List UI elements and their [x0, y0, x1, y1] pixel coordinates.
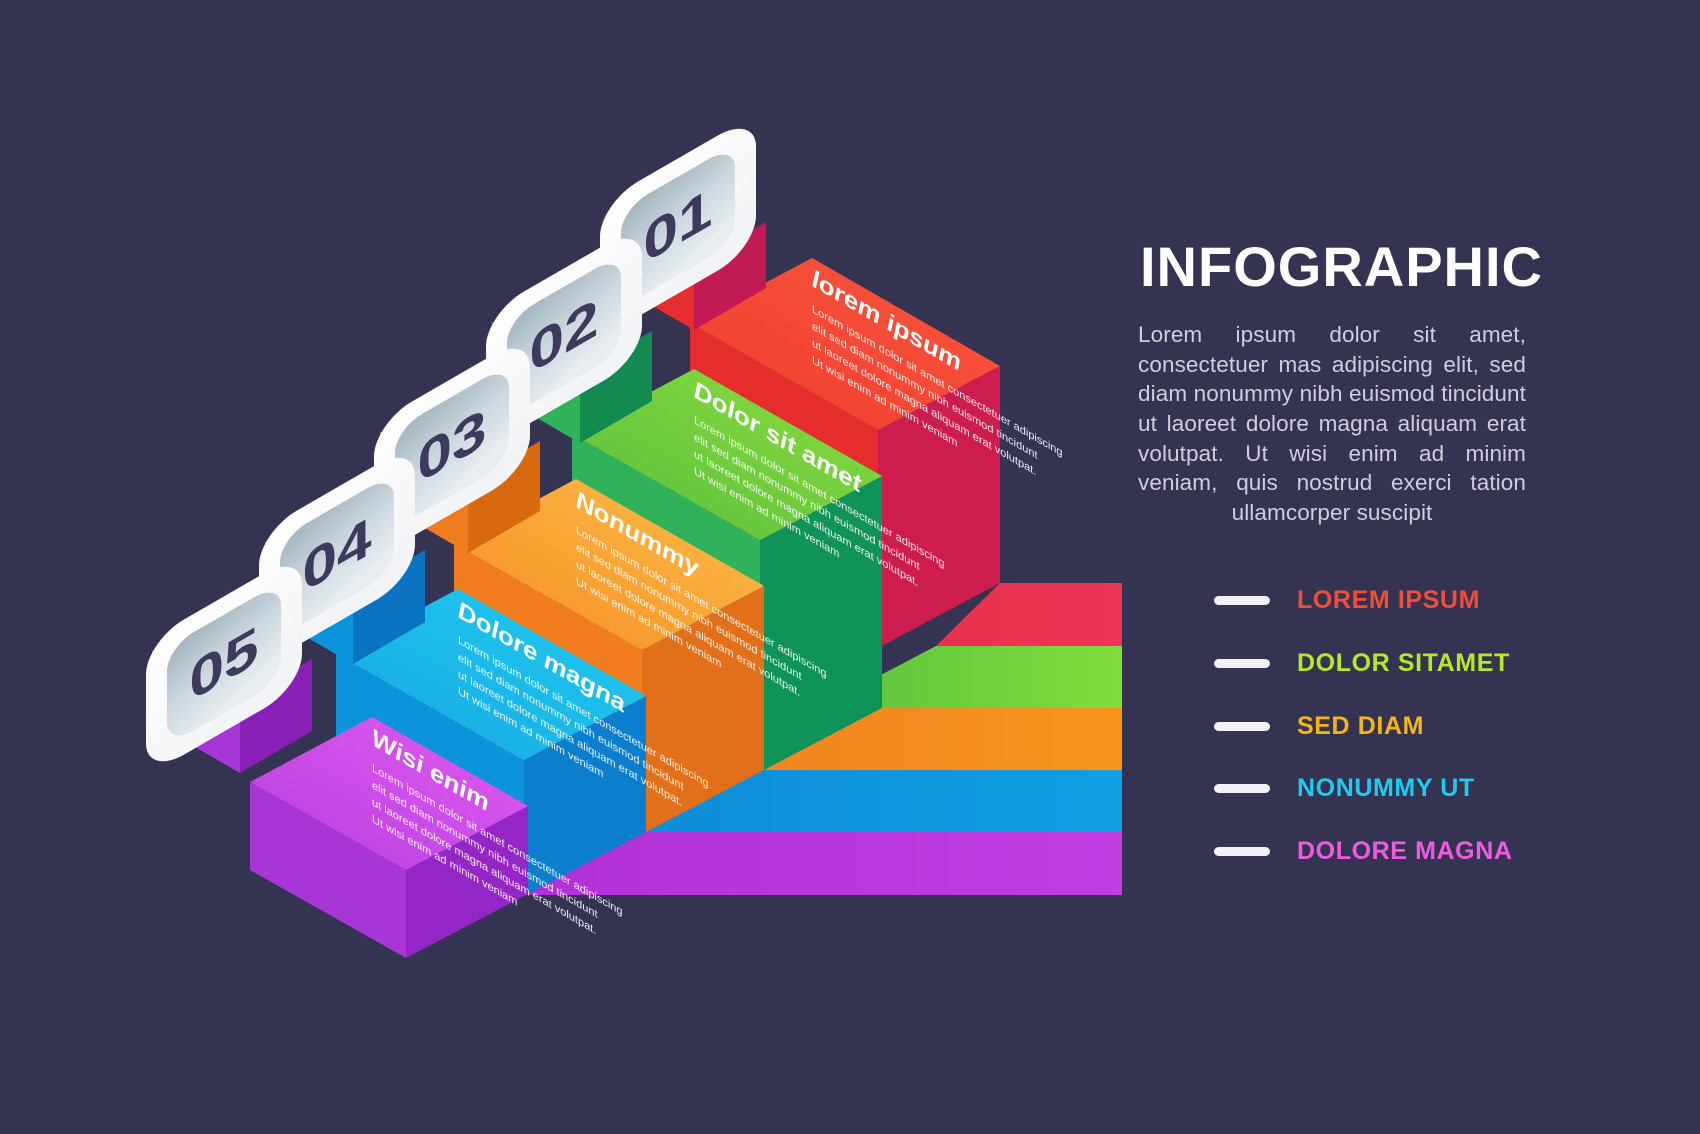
legend-label: NONUMMY UT [1297, 774, 1475, 803]
legend-item-3[interactable]: NONUMMY UT [1214, 773, 1475, 803]
legend-item-0[interactable]: LOREM IPSUM [1214, 585, 1480, 615]
legend-dash-icon [1214, 847, 1270, 856]
legend-label: SED DIAM [1297, 712, 1424, 741]
legend-item-4[interactable]: DOLORE MAGNA [1214, 836, 1513, 866]
legend-dash-icon [1214, 659, 1270, 668]
page-title: INFOGRAPHIC [1140, 238, 1610, 297]
legend-label: DOLORE MAGNA [1297, 837, 1513, 866]
intro-paragraph: Lorem ipsum dolor sit amet, consectetuer… [1138, 320, 1526, 528]
legend-dash-icon [1214, 784, 1270, 793]
legend-dash-icon [1214, 722, 1270, 731]
legend-dash-icon [1214, 596, 1270, 605]
legend-item-2[interactable]: SED DIAM [1214, 711, 1424, 741]
legend-label: DOLOR SITAMET [1297, 649, 1510, 678]
legend-item-1[interactable]: DOLOR SITAMET [1214, 648, 1510, 678]
isometric-staircase: 01 02 03 04 [0, 0, 1700, 1134]
legend-label: LOREM IPSUM [1297, 586, 1480, 615]
infographic-canvas: 01 02 03 04 [0, 0, 1700, 1134]
